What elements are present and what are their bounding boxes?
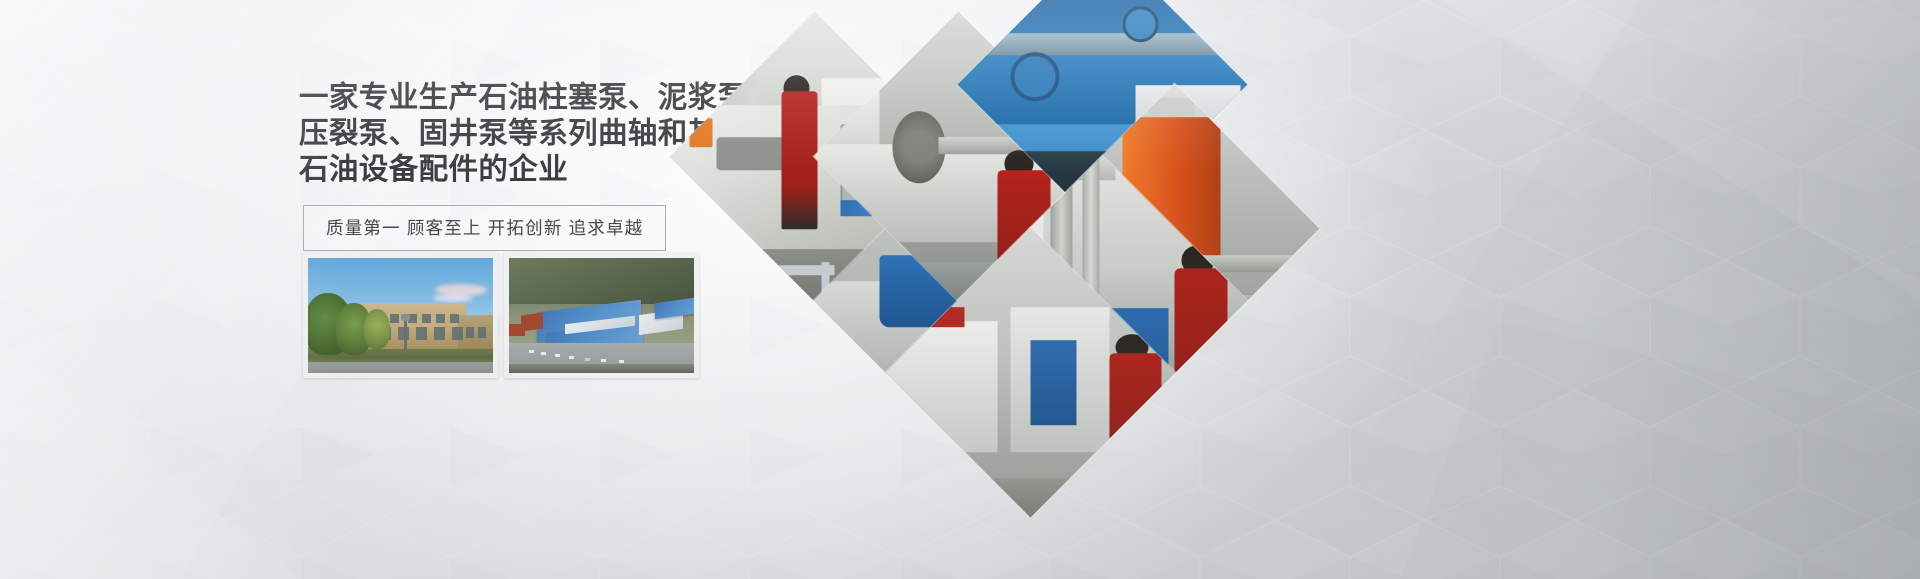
photo-strip (303, 253, 699, 378)
headline-block: 一家专业生产石油柱塞泵、泥浆泵、 压裂泵、固井泵等系列曲轴和其他 石油设备配件的… (299, 80, 729, 188)
headline-line-2: 压裂泵、固井泵等系列曲轴和其他 (299, 116, 729, 152)
headline-line-1: 一家专业生产石油柱塞泵、泥浆泵、 (299, 80, 729, 116)
hero-banner: 一家专业生产石油柱塞泵、泥浆泵、 压裂泵、固井泵等系列曲轴和其他 石油设备配件的… (0, 0, 1920, 579)
tagline-box: 质量第一 顾客至上 开拓创新 追求卓越 (303, 205, 666, 251)
headline-line-3: 石油设备配件的企业 (299, 152, 729, 188)
photo-office-building-exterior[interactable] (303, 253, 498, 378)
diamond-photo-collage (694, 40, 1284, 405)
photo-factory-aerial-view[interactable] (504, 253, 699, 378)
tagline-text: 质量第一 顾客至上 开拓创新 追求卓越 (326, 215, 643, 240)
